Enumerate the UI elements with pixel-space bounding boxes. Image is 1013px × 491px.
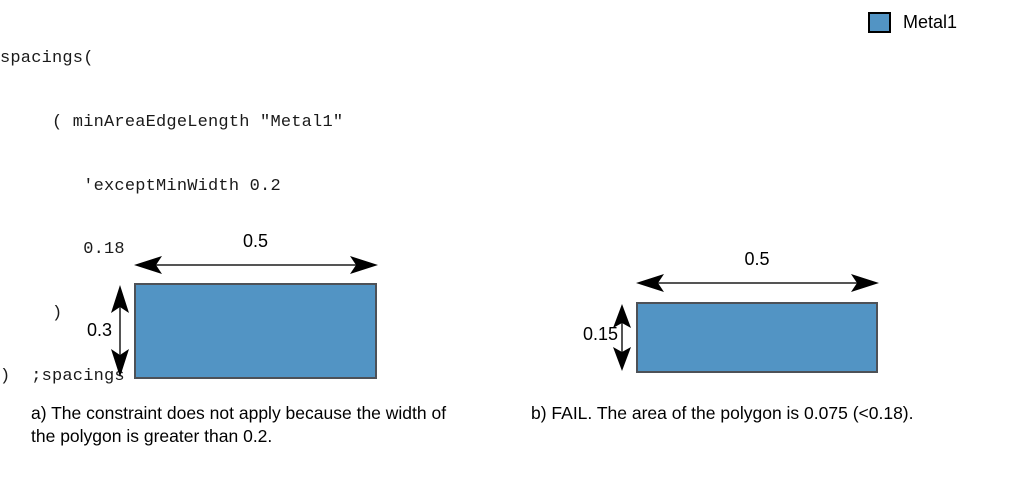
code-line: spacings( <box>0 48 343 69</box>
layer-swatch-icon <box>868 12 891 33</box>
width-dimension-label: 0.5 <box>636 249 878 270</box>
width-dimension-arrow <box>632 274 883 292</box>
width-dimension-label: 0.5 <box>134 231 377 252</box>
height-dimension-label: 0.15 <box>568 324 618 345</box>
legend-label: Metal1 <box>903 12 957 33</box>
height-dimension-arrow <box>613 302 631 373</box>
figure-panel-a: 0.5 0.3 <box>0 228 500 390</box>
figure-panel-b: 0.5 0.15 <box>502 246 1013 390</box>
legend: Metal1 <box>868 12 957 33</box>
figure-caption-b: b) FAIL. The area of the polygon is 0.07… <box>531 402 1001 425</box>
code-line: 'exceptMinWidth 0.2 <box>0 176 343 197</box>
metal1-polygon <box>134 283 377 379</box>
height-dimension-label: 0.3 <box>72 320 112 341</box>
figure-b-drawing: 0.5 0.15 <box>502 246 1013 390</box>
code-line: ( minAreaEdgeLength "Metal1" <box>0 112 343 133</box>
height-dimension-arrow <box>111 283 129 379</box>
metal1-polygon <box>636 302 878 373</box>
figure-a-drawing: 0.5 0.3 <box>0 228 500 390</box>
width-dimension-arrow <box>130 256 382 274</box>
figure-caption-a: a) The constraint does not apply because… <box>31 402 471 448</box>
